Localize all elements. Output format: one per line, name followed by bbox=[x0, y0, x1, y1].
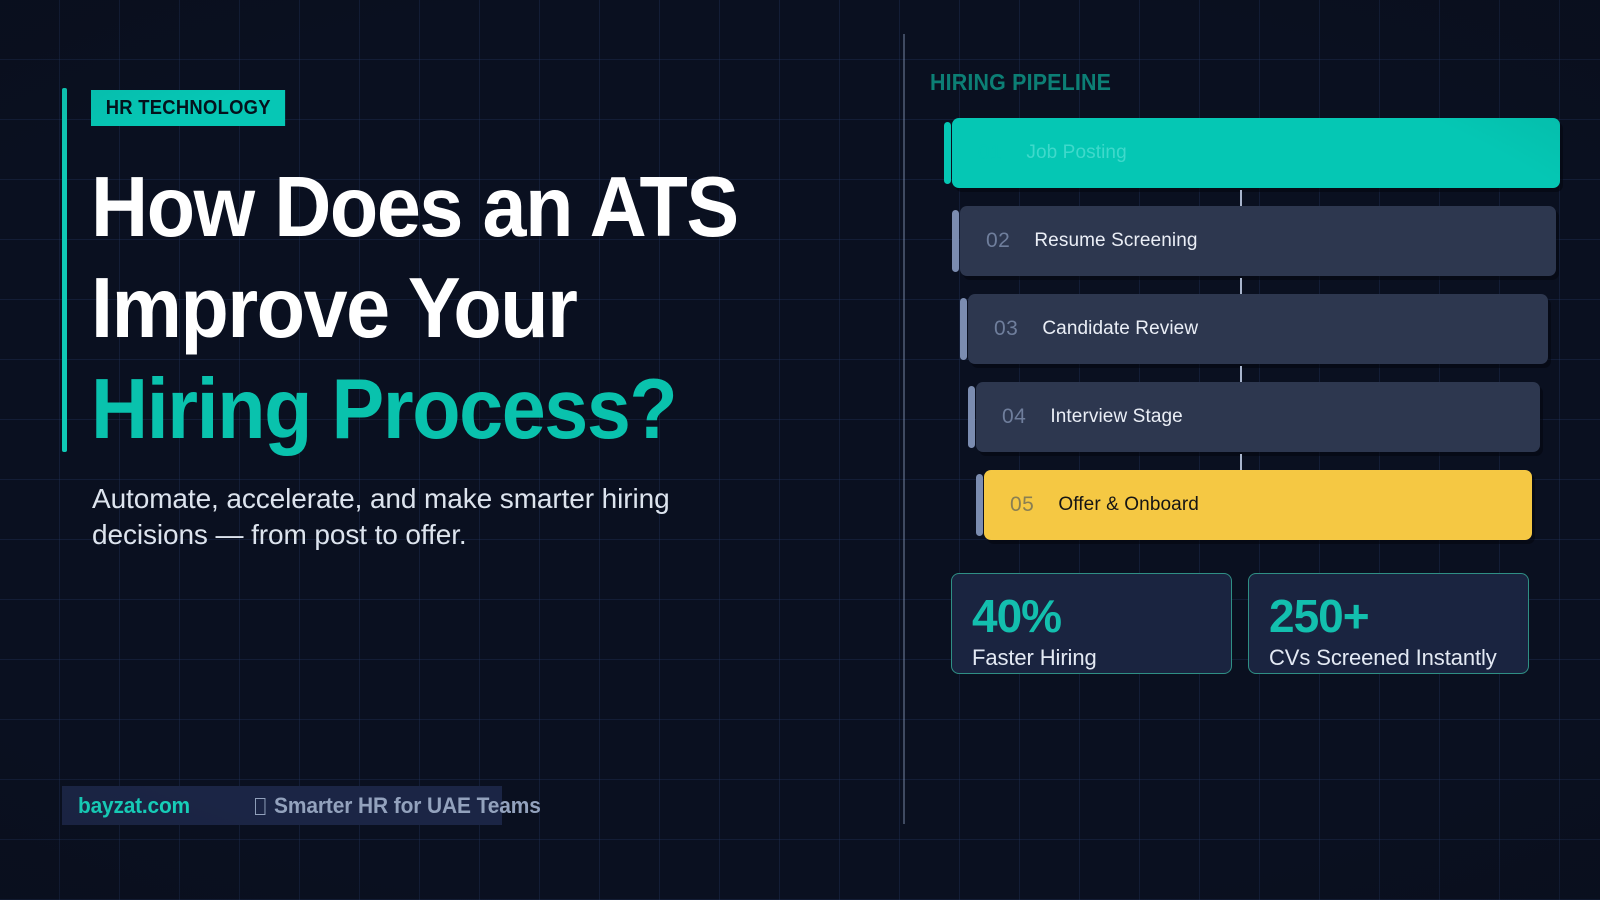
pipeline-step-label: Interview Stage bbox=[1050, 406, 1182, 428]
column-divider bbox=[903, 34, 905, 824]
pipeline-step-number: 05 bbox=[1010, 493, 1034, 517]
stat-label: Faster Hiring bbox=[972, 645, 1211, 671]
stat-value: 40% bbox=[972, 592, 1211, 640]
pipeline-step-3[interactable]: 03 Candidate Review bbox=[968, 294, 1548, 364]
category-badge: HR TECHNOLOGY bbox=[91, 90, 286, 126]
pipeline-step-number: 01 bbox=[978, 141, 1002, 165]
headline-line-2: Improve Your bbox=[91, 258, 844, 359]
headline-accent-bar bbox=[62, 88, 67, 452]
pipeline-step-1[interactable]: 01 Job Posting bbox=[952, 118, 1560, 188]
footer-site-link[interactable]: bayzat.com bbox=[78, 793, 190, 819]
footer-tagline-text: Smarter HR for UAE Teams bbox=[274, 793, 541, 819]
pipeline-step-accent bbox=[944, 122, 951, 184]
pipeline-step-accent bbox=[976, 474, 983, 536]
headline-line-1: How Does an ATS bbox=[91, 157, 844, 258]
pipeline-step-2[interactable]: 02 Resume Screening bbox=[960, 206, 1556, 276]
pipeline-step-5[interactable]: 05 Offer & Onboard bbox=[984, 470, 1532, 540]
subtitle: Automate, accelerate, and make smarter h… bbox=[92, 481, 732, 553]
stat-label: CVs Screened Instantly bbox=[1269, 645, 1508, 671]
slide-canvas: HR TECHNOLOGY How Does an ATS Improve Yo… bbox=[0, 0, 1600, 900]
pipeline-step-4[interactable]: 04 Interview Stage bbox=[976, 382, 1540, 452]
pipeline-step-number: 02 bbox=[986, 229, 1010, 253]
pipeline-step-accent bbox=[952, 210, 959, 272]
stat-value: 250+ bbox=[1269, 592, 1508, 640]
page-title: How Does an ATS Improve Your Hiring Proc… bbox=[91, 157, 844, 460]
pipeline-step-accent bbox=[968, 386, 975, 448]
pipeline-step-label: Offer & Onboard bbox=[1058, 494, 1199, 516]
pipeline-step-number: 04 bbox=[1002, 405, 1026, 429]
pipeline-step-label: Resume Screening bbox=[1034, 230, 1197, 252]
stat-card-cvs-screened: 250+ CVs Screened Instantly bbox=[1248, 573, 1529, 674]
pipeline-heading: HIRING PIPELINE bbox=[930, 69, 1111, 96]
headline-line-3: Hiring Process? bbox=[91, 359, 844, 460]
pipeline-step-label: Job Posting bbox=[1026, 142, 1126, 164]
stat-card-faster-hiring: 40% Faster Hiring bbox=[951, 573, 1232, 674]
pipeline-step-number: 03 bbox=[994, 317, 1018, 341]
missing-glyph-box-icon bbox=[255, 798, 265, 815]
pipeline-step-label: Candidate Review bbox=[1042, 318, 1198, 340]
footer-tagline: Smarter HR for UAE Teams bbox=[255, 793, 541, 819]
pipeline-step-accent bbox=[960, 298, 967, 360]
